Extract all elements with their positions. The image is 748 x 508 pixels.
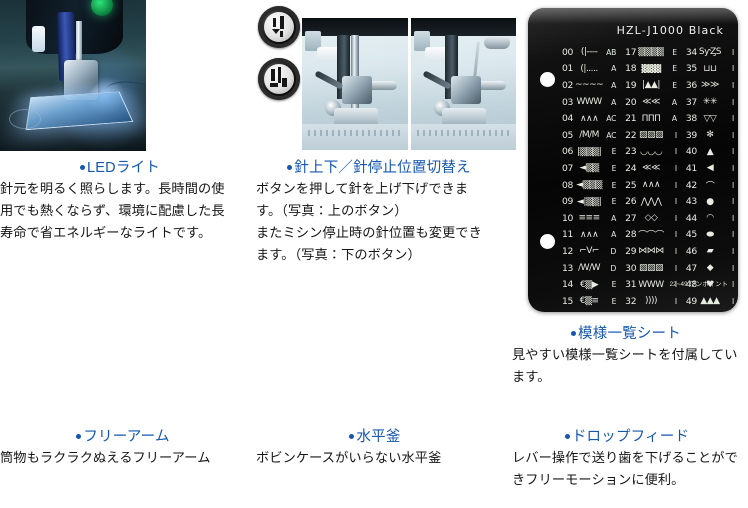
stitch-foot-code: I bbox=[664, 181, 677, 190]
caption-led-light: LEDライト bbox=[0, 156, 240, 177]
stitch-row: 04∧∧∧AC bbox=[562, 110, 616, 127]
stitch-row: 05/M/MAC bbox=[562, 127, 616, 144]
stitch-row: 10≡≡≡A bbox=[562, 210, 616, 227]
stitch-foot-code: E bbox=[664, 64, 677, 73]
stitch-number: 06 bbox=[562, 146, 575, 157]
stitch-symbol: ⊔⊔ bbox=[699, 64, 721, 74]
stitch-symbol: WWW bbox=[638, 280, 664, 290]
stitch-foot-code: I bbox=[664, 164, 677, 173]
stitch-number: 41 bbox=[686, 163, 699, 174]
stitch-number: 40 bbox=[686, 146, 699, 157]
stitch-symbol: ≪≪ bbox=[638, 163, 664, 173]
stitch-symbol: ▰ bbox=[699, 246, 721, 256]
stitch-foot-code: I bbox=[664, 297, 677, 306]
stitch-number: 31 bbox=[625, 279, 638, 290]
stitch-row: 06|▒▒▒|E bbox=[562, 144, 616, 161]
stitch-foot-code: E bbox=[603, 280, 616, 289]
stitch-symbol: ◄▒▒▒ bbox=[575, 180, 603, 190]
stitch-number: 07 bbox=[562, 163, 575, 174]
stitch-row: 02~~~~A bbox=[562, 77, 616, 94]
feature-led-light bbox=[0, 0, 240, 151]
stitch-foot-code: D bbox=[603, 264, 616, 273]
stitch-foot-code: AC bbox=[603, 131, 616, 140]
stitch-number: 26 bbox=[625, 196, 638, 207]
stitch-symbol: |▲▲| bbox=[638, 80, 664, 90]
needle-button-group bbox=[258, 6, 304, 110]
stitch-row: 41◀I bbox=[686, 160, 734, 177]
stitch-symbol: ∧∧∧ bbox=[575, 230, 603, 240]
stitch-foot-code: I bbox=[721, 114, 734, 123]
stitch-row: 34ЅƴȤЅI bbox=[686, 44, 734, 61]
stitch-number: 20 bbox=[625, 97, 638, 108]
sheet-footnote: 22~49 ワンポイント bbox=[670, 279, 728, 288]
caption-label: ドロップフィード bbox=[572, 429, 689, 445]
stitch-foot-code: I bbox=[721, 264, 734, 273]
stitch-foot-code: I bbox=[721, 214, 734, 223]
stitch-row: 13/W/WD bbox=[562, 260, 616, 277]
stitch-number: 35 bbox=[686, 63, 699, 74]
description-line: ます。（写真：下のボタン） bbox=[256, 244, 506, 266]
stitch-foot-code: I bbox=[721, 147, 734, 156]
needle-stop-position-icon bbox=[258, 58, 300, 100]
stitch-row: 14€▒▶E bbox=[562, 276, 616, 293]
caption-pattern-sheet: 模様一覧シート bbox=[506, 322, 746, 343]
stitch-symbol: ⌒⌒⌒ bbox=[638, 228, 664, 241]
stitch-symbol: ⋀⋀⋀ bbox=[638, 197, 664, 207]
stitch-symbol: ▽▽ bbox=[699, 114, 721, 124]
stitch-row: 18▓▓▓E bbox=[625, 61, 677, 78]
caption-label: 針上下／針停止位置切替え bbox=[294, 160, 470, 176]
stitch-row: 49▲▲▲I bbox=[686, 293, 734, 310]
stitch-number: 08 bbox=[562, 180, 575, 191]
stitch-row: 43●I bbox=[686, 193, 734, 210]
stitch-row: 33⊐⊏⊐I bbox=[625, 310, 677, 313]
stitch-column-3: 34ЅƴȤЅI35⊔⊔I36≫≫I37✳✳I38▽▽I39✻I40▲I41◀I4… bbox=[686, 44, 734, 312]
stitch-symbol: ◡◡◡ bbox=[638, 147, 664, 157]
stitch-symbol: ≡≡≡ bbox=[575, 213, 603, 223]
stitch-number: 39 bbox=[686, 130, 699, 141]
stitch-symbol: ΠΠΠ bbox=[638, 114, 664, 124]
stitch-number: 05 bbox=[562, 130, 575, 141]
stitch-foot-code: I bbox=[664, 197, 677, 206]
led-light-photo bbox=[0, 0, 146, 151]
stitch-row: 23◡◡◡I bbox=[625, 144, 677, 161]
stitch-number: 12 bbox=[562, 246, 575, 257]
description-line: またミシン停止時の針位置も変更でき bbox=[256, 222, 506, 244]
stitch-symbol: ⋈⋈⋈ bbox=[638, 246, 664, 256]
stitch-symbol: ◄▒▒ bbox=[575, 163, 603, 173]
stitch-symbol: /W/W bbox=[575, 263, 603, 273]
needle-down-photo bbox=[411, 18, 517, 150]
stitch-row: 25∧∧∧I bbox=[625, 177, 677, 194]
stitch-symbol: ⌐V⌐ bbox=[575, 246, 603, 256]
stitch-symbol: ⌒ bbox=[699, 179, 721, 192]
stitch-symbol: ▨▨▨ bbox=[638, 263, 664, 273]
stitch-number: 19 bbox=[625, 80, 638, 91]
stitch-row: 40▲I bbox=[686, 144, 734, 161]
stitch-number: 38 bbox=[686, 113, 699, 124]
stitch-row: 44◠I bbox=[686, 210, 734, 227]
stitch-foot-code: I bbox=[721, 48, 734, 57]
bullet-icon bbox=[571, 331, 576, 336]
stitch-symbol: ЅƴȤЅ bbox=[699, 47, 721, 57]
stitch-number: 03 bbox=[562, 97, 575, 108]
stitch-symbol: ▓▓▓ bbox=[638, 64, 664, 74]
stitch-symbol: (|---- bbox=[575, 47, 603, 57]
sheet-hole-bottom bbox=[540, 234, 555, 249]
stitch-row: 11∧∧∧A bbox=[562, 227, 616, 244]
stitch-number: 34 bbox=[686, 47, 699, 58]
caption-label: フリーアーム bbox=[83, 429, 169, 445]
bullet-icon bbox=[287, 165, 292, 170]
stitch-foot-code: I bbox=[721, 98, 734, 107]
bobbin-cover-dial-shape bbox=[9, 109, 41, 129]
sheet-gloss bbox=[528, 8, 738, 24]
caption-label: LEDライト bbox=[87, 160, 160, 176]
stitch-foot-code: E bbox=[603, 297, 616, 306]
stitch-row: 03WWWA bbox=[562, 94, 616, 111]
stitch-foot-code: A bbox=[603, 81, 616, 90]
stitch-number: 09 bbox=[562, 196, 575, 207]
stitch-symbol: /M/M bbox=[575, 130, 603, 140]
stitch-column-2: 17▒▒▒▒E18▓▓▓E19|▲▲|E20≪≪A21ΠΠΠA22▨▧▨I23◡… bbox=[625, 44, 677, 312]
stitch-foot-code: I bbox=[721, 230, 734, 239]
stitch-row: 01(|.....A bbox=[562, 61, 616, 78]
stitch-number: 25 bbox=[625, 180, 638, 191]
stitch-symbol: ◠ bbox=[699, 213, 721, 223]
stitch-row: 39✻I bbox=[686, 127, 734, 144]
stitch-row: 30▨▨▨I bbox=[625, 260, 677, 277]
stitch-row: 28⌒⌒⌒I bbox=[625, 227, 677, 244]
description-drop-feed: レバー操作で送り歯を下げることができフリーモーションに便利。 bbox=[512, 447, 744, 491]
stitch-symbol: ▲▲▲ bbox=[699, 296, 721, 306]
stitch-column-1: 00(|----AB01(|.....A02~~~~A03WWWA04∧∧∧AC… bbox=[562, 44, 616, 312]
pattern-sheet-image: HZL-J1000 Black 00(|----AB01(|.....A02~~… bbox=[528, 8, 738, 312]
stitch-symbol: ≪≪ bbox=[638, 97, 664, 107]
needle-stop-position-button[interactable] bbox=[258, 58, 300, 100]
stitch-foot-code: A bbox=[603, 64, 616, 73]
stitch-row: 00(|----AB bbox=[562, 44, 616, 61]
stitch-symbol: ▲ bbox=[699, 147, 721, 157]
stitch-foot-code: E bbox=[664, 48, 677, 57]
stitch-number: 46 bbox=[686, 246, 699, 257]
stitch-foot-code: D bbox=[603, 247, 616, 256]
stitch-foot-code: I bbox=[721, 197, 734, 206]
stitch-row: 36≫≫I bbox=[686, 77, 734, 94]
stitch-foot-code: A bbox=[603, 98, 616, 107]
stitch-row: 47◆I bbox=[686, 260, 734, 277]
stitch-symbol: (|..... bbox=[575, 64, 603, 74]
stitch-foot-code: I bbox=[664, 230, 677, 239]
stitch-symbol: WWW bbox=[575, 97, 603, 107]
stitch-foot-code: I bbox=[721, 81, 734, 90]
stitch-number: 28 bbox=[625, 229, 638, 240]
description-horizontal-hook: ボビンケースがいらない水平釜 bbox=[256, 447, 506, 469]
stitch-number: 21 bbox=[625, 113, 638, 124]
stitch-number: 49 bbox=[686, 296, 699, 307]
stitch-symbol: ◆ bbox=[699, 263, 721, 273]
needle-position-photo bbox=[302, 18, 516, 150]
caption-drop-feed: ドロップフィード bbox=[506, 425, 748, 446]
stitch-number: 01 bbox=[562, 63, 575, 74]
stitch-number: 13 bbox=[562, 263, 575, 274]
stitch-symbol: ⬬ bbox=[699, 230, 721, 240]
stitch-foot-code: I bbox=[721, 131, 734, 140]
stitch-number: 02 bbox=[562, 80, 575, 91]
stitch-symbol: ~~~~ bbox=[575, 80, 603, 90]
stitch-number: 17 bbox=[625, 47, 638, 58]
stitch-foot-code: A bbox=[603, 214, 616, 223]
stitch-number: 15 bbox=[562, 296, 575, 307]
bullet-icon bbox=[349, 434, 354, 439]
stitch-number: 32 bbox=[625, 296, 638, 307]
stitch-number: 22 bbox=[625, 130, 638, 141]
stitch-number: 11 bbox=[562, 229, 575, 240]
stitch-number: 44 bbox=[686, 213, 699, 224]
stitch-foot-code: E bbox=[603, 197, 616, 206]
stitch-number: 42 bbox=[686, 180, 699, 191]
stitch-row: 26⋀⋀⋀I bbox=[625, 193, 677, 210]
stitch-symbol: ✻ bbox=[699, 130, 721, 140]
stitch-row: 42⌒I bbox=[686, 177, 734, 194]
stitch-foot-code: I bbox=[664, 214, 677, 223]
stitch-number: 43 bbox=[686, 196, 699, 207]
stitch-row: 16|▒▒▒|E bbox=[562, 310, 616, 313]
stitch-pattern-grid: 00(|----AB01(|.....A02~~~~A03WWWA04∧∧∧AC… bbox=[562, 44, 730, 312]
stitch-foot-code: I bbox=[721, 247, 734, 256]
sheet-hole-top bbox=[540, 72, 555, 87]
feature-grid-page: LEDライト 針元を明るく照らします。長時間の使用でも熱くならず、環境に配慮した… bbox=[0, 0, 748, 508]
stitch-row: 37✳✳I bbox=[686, 94, 734, 111]
stitch-symbol: )))) bbox=[638, 296, 664, 306]
stitch-foot-code: I bbox=[664, 247, 677, 256]
stitch-symbol: ∧∧∧ bbox=[575, 114, 603, 124]
stitch-foot-code: A bbox=[664, 114, 677, 123]
stitch-row: 32))))I bbox=[625, 293, 677, 310]
stitch-number: 45 bbox=[686, 229, 699, 240]
stitch-row: 35⊔⊔I bbox=[686, 61, 734, 78]
stitch-symbol: ◄|▒▒| bbox=[575, 197, 603, 207]
needle-up-down-button[interactable] bbox=[258, 6, 300, 48]
white-thread-guide-shape bbox=[32, 26, 45, 52]
stitch-number: 27 bbox=[625, 213, 638, 224]
description-led-light: 針元を明るく照らします。長時間の使用でも熱くならず、環境に配慮した長寿命で省エネ… bbox=[0, 178, 236, 244]
stitch-foot-code: I bbox=[664, 131, 677, 140]
stitch-number: 29 bbox=[625, 246, 638, 257]
stitch-foot-code: I bbox=[721, 164, 734, 173]
stitch-foot-code: E bbox=[603, 181, 616, 190]
stitch-row: 20≪≪A bbox=[625, 94, 677, 111]
stitch-row: 15€▒≡E bbox=[562, 293, 616, 310]
stitch-row: 22▨▧▨I bbox=[625, 127, 677, 144]
description-line: ボタンを押して針を上げ下げできま bbox=[256, 178, 506, 200]
stitch-number: 47 bbox=[686, 263, 699, 274]
stitch-number: 30 bbox=[625, 263, 638, 274]
stitch-foot-code: E bbox=[603, 147, 616, 156]
stitch-row: 21ΠΠΠA bbox=[625, 110, 677, 127]
stitch-symbol: ≫≫ bbox=[699, 80, 721, 90]
stitch-foot-code: I bbox=[721, 297, 734, 306]
stitch-number: 10 bbox=[562, 213, 575, 224]
stitch-foot-code: A bbox=[664, 98, 677, 107]
stitch-symbol: ◇◇ bbox=[638, 213, 664, 223]
stitch-number: 37 bbox=[686, 97, 699, 108]
stitch-number: 36 bbox=[686, 80, 699, 91]
description-pattern-sheet: 見やすい模様一覧シートを付属しています。 bbox=[512, 344, 744, 388]
stitch-row: 46▰I bbox=[686, 243, 734, 260]
stitch-row: 08◄▒▒▒E bbox=[562, 177, 616, 194]
stitch-number: 14 bbox=[562, 279, 575, 290]
stitch-row: 12⌐V⌐D bbox=[562, 243, 616, 260]
stitch-symbol: ● bbox=[699, 197, 721, 207]
bullet-icon bbox=[80, 165, 85, 170]
caption-horizontal-hook: 水平釜 bbox=[250, 425, 500, 446]
stitch-row: 29⋈⋈⋈I bbox=[625, 243, 677, 260]
stitch-row: 45⬬I bbox=[686, 227, 734, 244]
stitch-number: 24 bbox=[625, 163, 638, 174]
bullet-icon bbox=[565, 434, 570, 439]
description-needle-up-down: ボタンを押して針を上げ下げできま す。（写真：上のボタン） またミシン停止時の針… bbox=[256, 178, 506, 266]
stitch-row: 07◄▒▒E bbox=[562, 160, 616, 177]
stitch-number: 04 bbox=[562, 113, 575, 124]
stitch-foot-code: AC bbox=[603, 114, 616, 123]
caption-free-arm: フリーアーム bbox=[0, 425, 246, 446]
stitch-foot-code: A bbox=[603, 230, 616, 239]
stitch-foot-code: E bbox=[664, 81, 677, 90]
stitch-symbol: ✳✳ bbox=[699, 97, 721, 107]
stitch-symbol: ▨▧▨ bbox=[638, 130, 664, 140]
stitch-symbol: |▒▒▒| bbox=[575, 147, 603, 157]
needle-up-photo bbox=[302, 18, 408, 150]
stitch-foot-code: E bbox=[603, 164, 616, 173]
stitch-row: 17▒▒▒▒E bbox=[625, 44, 677, 61]
stitch-foot-code: I bbox=[721, 181, 734, 190]
stitch-symbol: ▒▒▒▒ bbox=[638, 47, 664, 57]
stitch-symbol: ◀ bbox=[699, 163, 721, 173]
caption-needle-up-down: 針上下／針停止位置切替え bbox=[250, 156, 508, 177]
stitch-row: 24≪≪I bbox=[625, 160, 677, 177]
caption-label: 模様一覧シート bbox=[578, 326, 681, 342]
stitch-number: 23 bbox=[625, 146, 638, 157]
needle-up-down-icon bbox=[258, 6, 300, 48]
stitch-number: 00 bbox=[562, 47, 575, 58]
stitch-row: 09◄|▒▒|E bbox=[562, 193, 616, 210]
stitch-symbol: ∧∧∧ bbox=[638, 180, 664, 190]
stitch-row: 27◇◇I bbox=[625, 210, 677, 227]
stitch-row: 19|▲▲|E bbox=[625, 77, 677, 94]
stitch-symbol: €▒▶ bbox=[575, 280, 603, 290]
stitch-symbol: €▒≡ bbox=[575, 296, 603, 306]
stitch-foot-code: I bbox=[664, 264, 677, 273]
sheet-model-title: HZL-J1000 Black bbox=[617, 24, 724, 37]
stitch-number: 18 bbox=[625, 63, 638, 74]
stitch-foot-code: I bbox=[721, 64, 734, 73]
stitch-foot-code: I bbox=[664, 147, 677, 156]
description-line: す。（写真：上のボタン） bbox=[256, 200, 506, 222]
bullet-icon bbox=[76, 434, 81, 439]
description-free-arm: 筒物もラクラクぬえるフリーアーム bbox=[0, 447, 250, 469]
stitch-row: 38▽▽I bbox=[686, 110, 734, 127]
stitch-foot-code: AB bbox=[603, 48, 616, 57]
caption-label: 水平釜 bbox=[356, 429, 400, 445]
